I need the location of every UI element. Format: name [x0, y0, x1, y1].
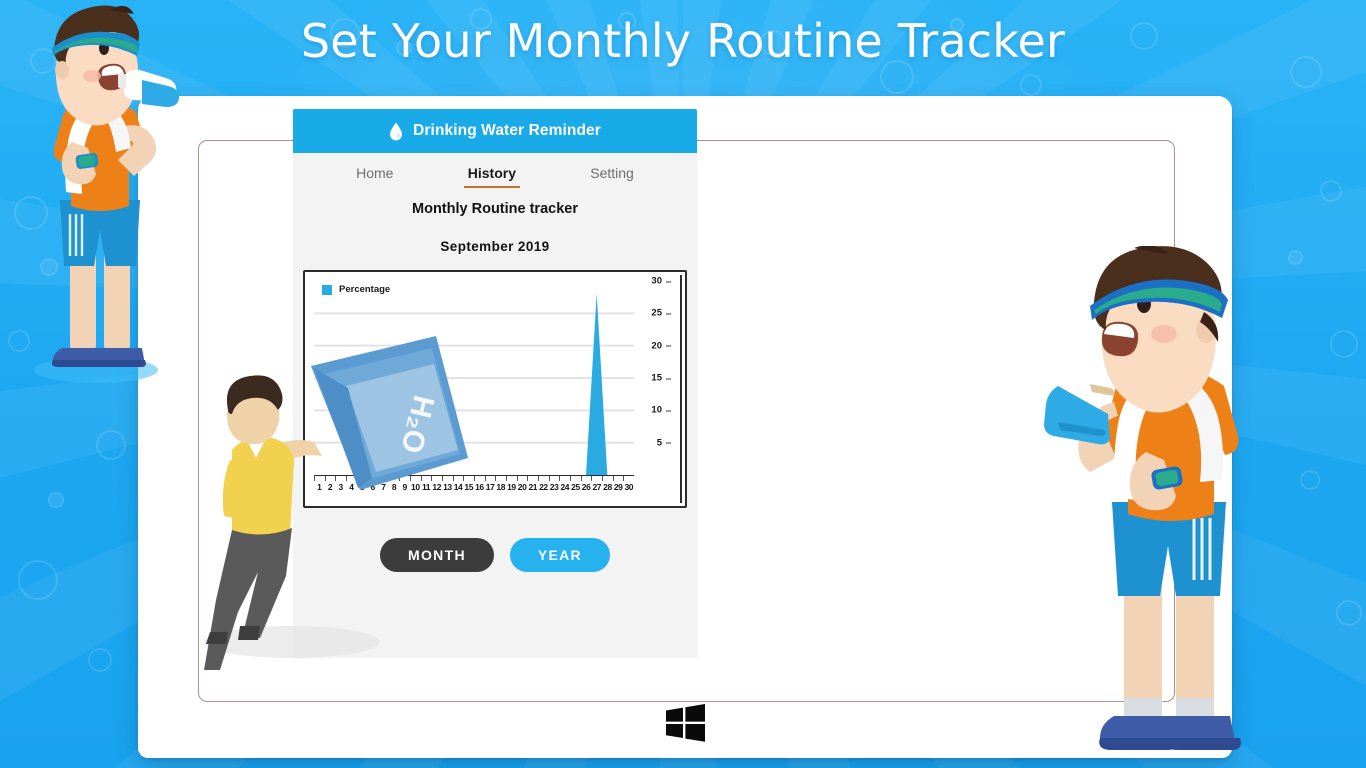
x-axis-tick	[517, 476, 528, 481]
y-axis-tick: 20	[651, 340, 662, 351]
y-axis-tick: 15	[651, 373, 662, 384]
boy-holding-bottle-illustration	[1028, 246, 1298, 768]
x-axis-label: 28	[602, 482, 613, 492]
x-axis-label: 19	[506, 482, 517, 492]
y-axis-tick: 30	[651, 276, 662, 287]
x-axis-tick	[602, 476, 613, 481]
x-axis-label: 22	[538, 482, 549, 492]
x-axis-tick	[591, 476, 602, 481]
x-axis-tick	[559, 476, 570, 481]
person-pouring-h2o-glass-illustration: H₂O	[196, 330, 496, 670]
x-axis-tick	[581, 476, 592, 481]
x-axis-label: 21	[527, 482, 538, 492]
x-axis-tick	[506, 476, 517, 481]
app-title: Drinking Water Reminder	[413, 122, 601, 140]
tab-history[interactable]: History	[464, 165, 520, 188]
x-axis-tick	[549, 476, 560, 481]
legend-swatch-percentage	[322, 285, 332, 295]
x-axis-label: 29	[613, 482, 624, 492]
chart-legend: Percentage	[322, 284, 390, 295]
chart-y-axis: 51015202530	[634, 281, 674, 475]
y-axis-tick: 5	[657, 437, 662, 448]
x-axis-label: 23	[549, 482, 560, 492]
year-button[interactable]: YEAR	[510, 538, 610, 572]
x-axis-label: 26	[581, 482, 592, 492]
water-drop-icon	[389, 122, 403, 141]
legend-label-percentage: Percentage	[339, 284, 390, 295]
month-year-label: September 2019	[293, 239, 697, 254]
y-axis-tick: 25	[651, 308, 662, 319]
x-axis-label: 27	[591, 482, 602, 492]
app-header: Drinking Water Reminder	[293, 109, 697, 153]
tab-home[interactable]: Home	[352, 165, 397, 188]
section-title: Monthly Routine tracker	[293, 201, 697, 217]
x-axis-tick	[623, 476, 634, 481]
x-axis-tick	[495, 476, 506, 481]
x-axis-tick	[538, 476, 549, 481]
x-axis-tick	[527, 476, 538, 481]
screenshot-root: Set Your Monthly Routine Tracker Drinkin…	[0, 0, 1366, 768]
page-title: Set Your Monthly Routine Tracker	[0, 14, 1366, 68]
x-axis-label: 18	[495, 482, 506, 492]
x-axis-tick	[570, 476, 581, 481]
x-axis-label: 20	[517, 482, 528, 492]
app-tabbar: Home History Setting	[293, 153, 697, 195]
tab-setting[interactable]: Setting	[586, 165, 638, 188]
x-axis-tick	[613, 476, 624, 481]
y-axis-tick: 10	[651, 405, 662, 416]
x-axis-label: 24	[559, 482, 570, 492]
x-axis-label: 30	[623, 482, 634, 492]
x-axis-label: 25	[570, 482, 581, 492]
